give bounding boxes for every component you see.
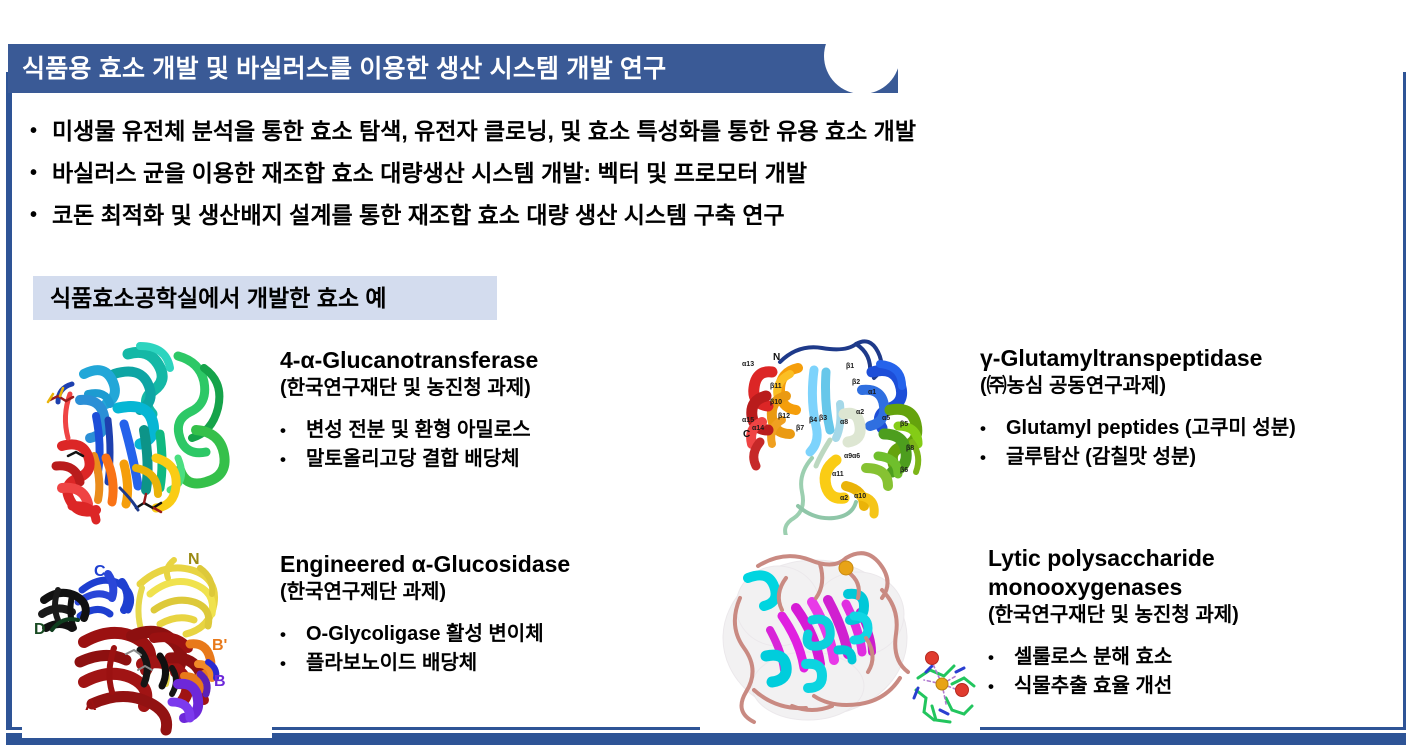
bullet-marker-icon: • — [988, 672, 1014, 701]
enzyme-feature-list: • Glutamyl peptides (고쿠미 성분) • 글루탐산 (감칠맛… — [980, 414, 1400, 472]
bullet-text: 미생물 유전체 분석을 통한 효소 탐색, 유전자 클로닝, 및 효소 특성화를… — [52, 116, 1360, 147]
enzyme-feature-item: • 플라보노이드 배당체 — [280, 649, 680, 678]
enzyme-name: 4-α-Glucanotransferase — [280, 346, 680, 375]
bullet-marker-icon: • — [30, 158, 52, 189]
svg-text:β3: β3 — [819, 415, 827, 422]
bullet-item: • 바실러스 균을 이용한 재조합 효소 대량생산 시스템 개발: 벡터 및 프… — [30, 158, 1360, 189]
svg-text:α2: α2 — [840, 495, 848, 502]
svg-text:β1: β1 — [846, 363, 854, 370]
enzyme-feature-text: 플라보노이드 배당체 — [306, 649, 680, 678]
svg-text:C: C — [743, 429, 750, 440]
svg-text:β11: β11 — [770, 383, 782, 390]
svg-text:β12: β12 — [778, 413, 790, 420]
enzyme-feature-item: • 변성 전분 및 환형 아밀로스 — [280, 416, 680, 445]
enzyme-info: Engineered α-Glucosidase (한국연구제단 과제) • O… — [280, 550, 680, 678]
enzyme-feature-item: • Glutamyl peptides (고쿠미 성분) — [980, 414, 1400, 443]
enzyme-name: γ-Glutamyltranspeptidase — [980, 344, 1400, 373]
svg-text:β5: β5 — [900, 421, 908, 428]
svg-text:α11: α11 — [832, 471, 844, 478]
enzyme-feature-text: 변성 전분 및 환형 아밀로스 — [306, 416, 680, 445]
svg-text:C: C — [94, 563, 106, 580]
svg-text:N: N — [773, 352, 780, 363]
enzyme-name: Lytic polysaccharide monooxygenases — [988, 544, 1408, 602]
bullet-marker-icon: • — [988, 643, 1014, 672]
svg-text:B': B' — [212, 637, 227, 654]
bullet-marker-icon: • — [280, 620, 306, 649]
svg-text:β7: β7 — [796, 425, 804, 432]
svg-text:D: D — [34, 621, 46, 638]
enzyme-name: Engineered α-Glucosidase — [280, 550, 680, 579]
bullet-item: • 코돈 최적화 및 생산배지 설계를 통한 재조합 효소 대량 생산 시스템 … — [30, 200, 1360, 231]
enzyme-card-glucosidase: N C D A B' B Engineered α-Glucosidase (한… — [22, 538, 688, 738]
enzyme-info: γ-Glutamyltranspeptidase (㈜농심 공동연구과제) • … — [980, 344, 1400, 472]
enzyme-feature-item: • 셀룰로스 분해 효소 — [988, 643, 1408, 672]
enzyme-info: Lytic polysaccharide monooxygenases (한국연… — [988, 544, 1408, 701]
bullet-marker-icon: • — [280, 445, 306, 474]
svg-text:β6: β6 — [900, 467, 908, 474]
bullet-marker-icon: • — [30, 200, 52, 231]
svg-text:N: N — [188, 551, 200, 568]
bullet-item: • 미생물 유전체 분석을 통한 효소 탐색, 유전자 클로닝, 및 효소 특성… — [30, 116, 1360, 147]
svg-text:A: A — [85, 697, 97, 714]
enzyme-feature-list: • O-Glycoligase 활성 변이체 • 플라보노이드 배당체 — [280, 620, 680, 678]
enzyme-project: (한국연구재단 및 농진청 과제) — [280, 375, 680, 402]
enzyme-feature-text: 셀룰로스 분해 효소 — [1014, 643, 1408, 672]
svg-text:β10: β10 — [770, 399, 782, 406]
slide-bullet-list: • 미생물 유전체 분석을 통한 효소 탐색, 유전자 클로닝, 및 효소 특성… — [30, 116, 1360, 242]
enzyme-feature-item: • O-Glycoligase 활성 변이체 — [280, 620, 680, 649]
enzyme-feature-list: • 셀룰로스 분해 효소 • 식물추출 효율 개선 — [988, 643, 1408, 701]
enzyme-project: (한국연구제단 과제) — [280, 579, 680, 606]
title-banner-notch — [824, 44, 898, 93]
enzyme-info: 4-α-Glucanotransferase (한국연구재단 및 농진청 과제)… — [280, 346, 680, 474]
enzyme-project: (한국연구재단 및 농진청 과제) — [988, 602, 1408, 629]
bullet-marker-icon: • — [280, 649, 306, 678]
bullet-text: 바실러스 균을 이용한 재조합 효소 대량생산 시스템 개발: 벡터 및 프로모… — [52, 158, 1360, 189]
svg-text:β8: β8 — [906, 445, 914, 452]
section-header-label: 식품효소공학실에서 개발한 효소 예 — [50, 283, 387, 313]
svg-text:β2: β2 — [852, 379, 860, 386]
protein-structure-rainbow-ribbon-image — [28, 338, 268, 530]
bullet-marker-icon: • — [980, 414, 1006, 443]
enzyme-card-glutamyltranspeptidase: N C α13 α15 α14 β11 β10 β12 β7 β4 β3 β1 … — [740, 330, 1410, 538]
bullet-marker-icon: • — [30, 116, 52, 147]
enzyme-card-glucanotransferase: 4-α-Glucanotransferase (한국연구재단 및 농진청 과제)… — [28, 338, 688, 538]
svg-text:α14: α14 — [752, 425, 764, 432]
bullet-text: 코돈 최적화 및 생산배지 설계를 통한 재조합 효소 대량 생산 시스템 구축… — [52, 200, 1360, 231]
enzyme-project: (㈜농심 공동연구과제) — [980, 373, 1400, 400]
svg-text:α13: α13 — [742, 361, 754, 368]
svg-text:α10: α10 — [854, 493, 866, 500]
slide-title: 식품용 효소 개발 및 바실러스를 이용한 생산 시스템 개발 연구 — [22, 50, 666, 88]
svg-text:α1: α1 — [868, 389, 876, 396]
svg-text:α2: α2 — [856, 409, 864, 416]
svg-text:α9: α9 — [844, 453, 852, 460]
enzyme-feature-item: • 말토올리고당 결합 배당체 — [280, 445, 680, 474]
slide-frame-left-accent — [6, 72, 12, 730]
svg-text:α6: α6 — [852, 453, 860, 460]
bullet-marker-icon: • — [280, 416, 306, 445]
svg-text:β4: β4 — [809, 417, 817, 424]
protein-structure-domain-colored-image: N C D A B' B — [22, 538, 272, 738]
enzyme-feature-text: Glutamyl peptides (고쿠미 성분) — [1006, 414, 1400, 443]
svg-text:α8: α8 — [840, 419, 848, 426]
enzyme-feature-text: 글루탐산 (감칠맛 성분) — [1006, 443, 1400, 472]
bullet-marker-icon: • — [980, 443, 1006, 472]
enzyme-feature-item: • 식물추출 효율 개선 — [988, 672, 1408, 701]
enzyme-feature-list: • 변성 전분 및 환형 아밀로스 • 말토올리고당 결합 배당체 — [280, 416, 680, 474]
enzyme-feature-text: 식물추출 효율 개선 — [1014, 672, 1408, 701]
svg-text:α15: α15 — [742, 417, 754, 424]
protein-structure-copper-site-image — [700, 538, 980, 733]
svg-text:B: B — [214, 673, 226, 690]
enzyme-card-lpmo: Lytic polysaccharide monooxygenases (한국연… — [700, 538, 1410, 738]
enzyme-feature-text: O-Glycoligase 활성 변이체 — [306, 620, 680, 649]
svg-text:α5: α5 — [882, 415, 890, 422]
enzyme-feature-item: • 글루탐산 (감칠맛 성분) — [980, 443, 1400, 472]
enzyme-feature-text: 말토올리고당 결합 배당체 — [306, 445, 680, 474]
protein-structure-annotated-ribbon-image: N C α13 α15 α14 β11 β10 β12 β7 β4 β3 β1 … — [740, 330, 955, 535]
